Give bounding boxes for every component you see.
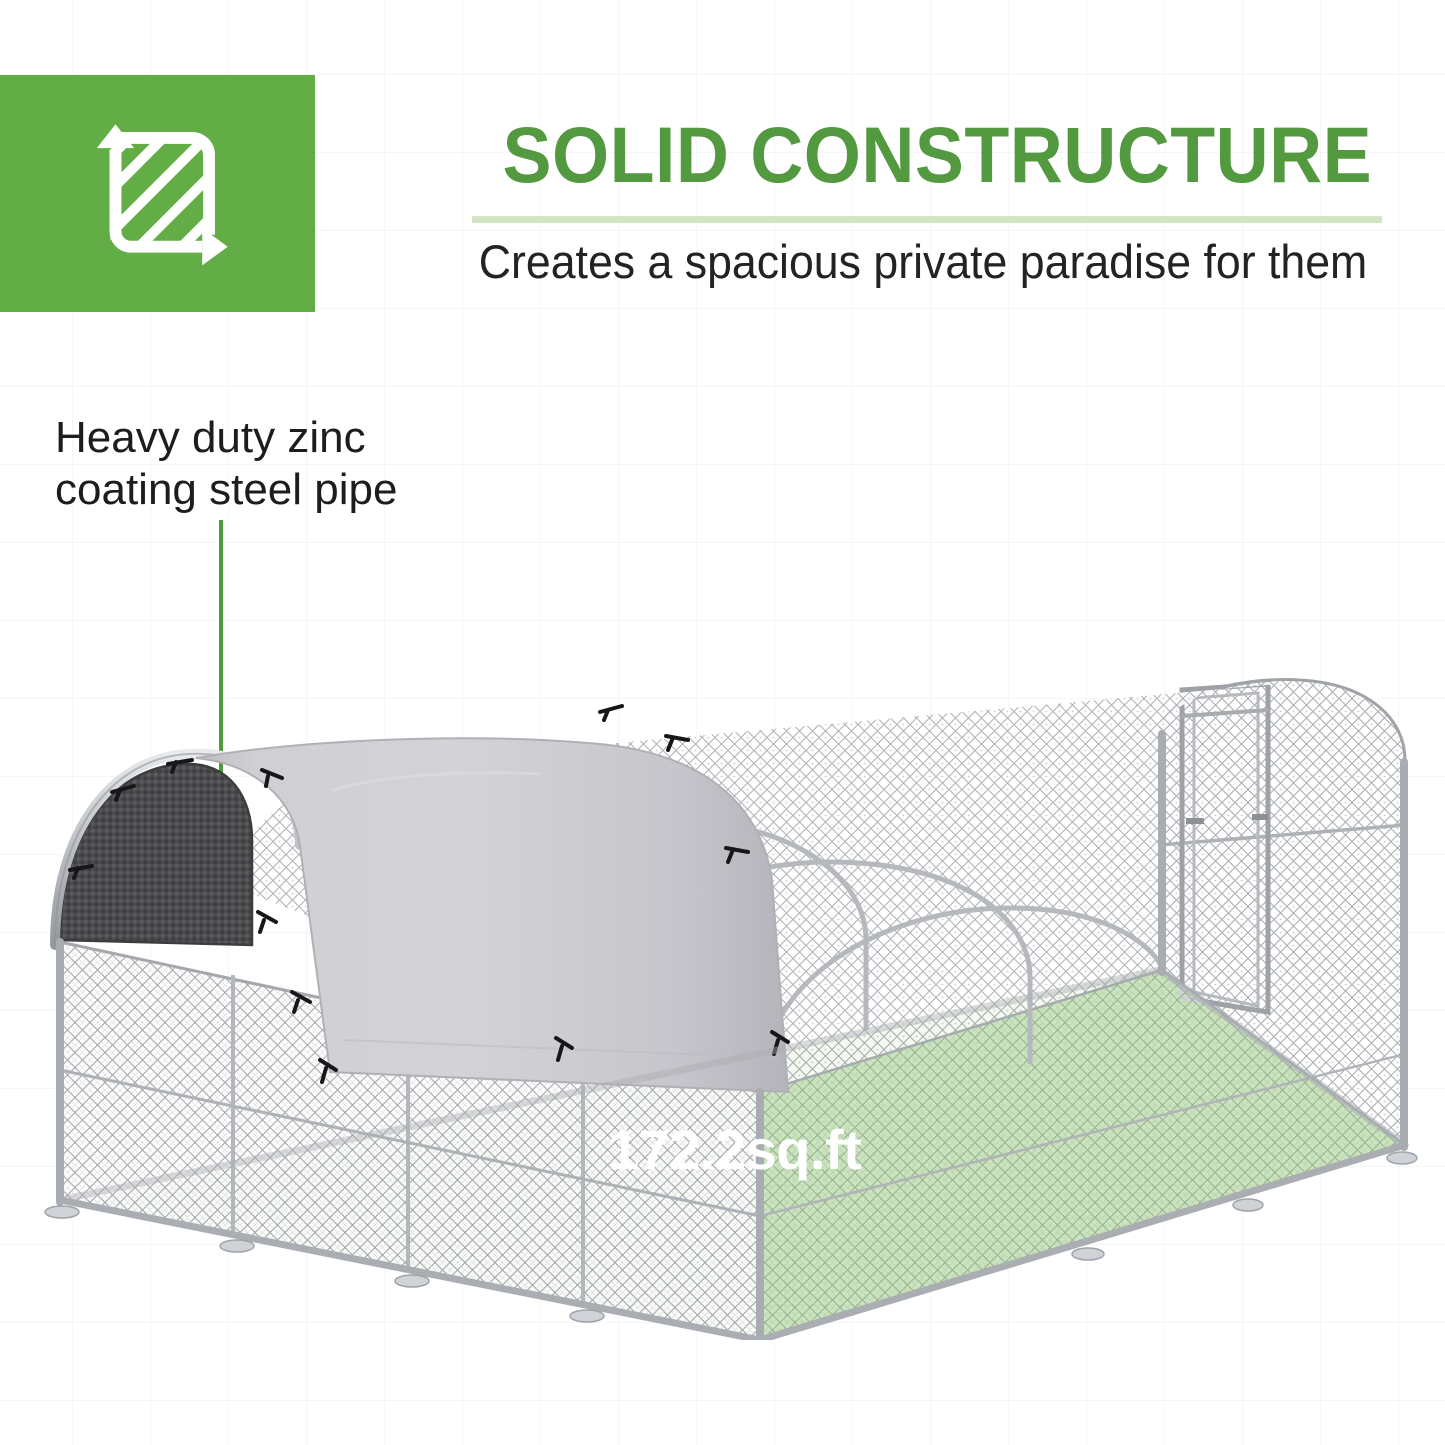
product-illustration bbox=[0, 640, 1445, 1340]
title-divider bbox=[472, 216, 1382, 223]
callout-line-2: coating steel pipe bbox=[55, 464, 485, 516]
front-gable-shade bbox=[60, 764, 252, 945]
page-subtitle: Creates a spacious private paradise for … bbox=[426, 232, 1420, 292]
callout-text: Heavy duty zinc coating steel pipe bbox=[55, 412, 485, 516]
area-size-icon bbox=[73, 109, 243, 279]
floor-area-label: 172.2sq.ft bbox=[608, 1118, 928, 1182]
page-title: SOLID CONSTRUCTURE bbox=[503, 112, 1368, 198]
product-feature-image: SOLID CONSTRUCTURE Creates a spacious pr… bbox=[0, 0, 1445, 1445]
feature-badge bbox=[0, 75, 315, 312]
callout-line-1: Heavy duty zinc bbox=[55, 412, 485, 464]
